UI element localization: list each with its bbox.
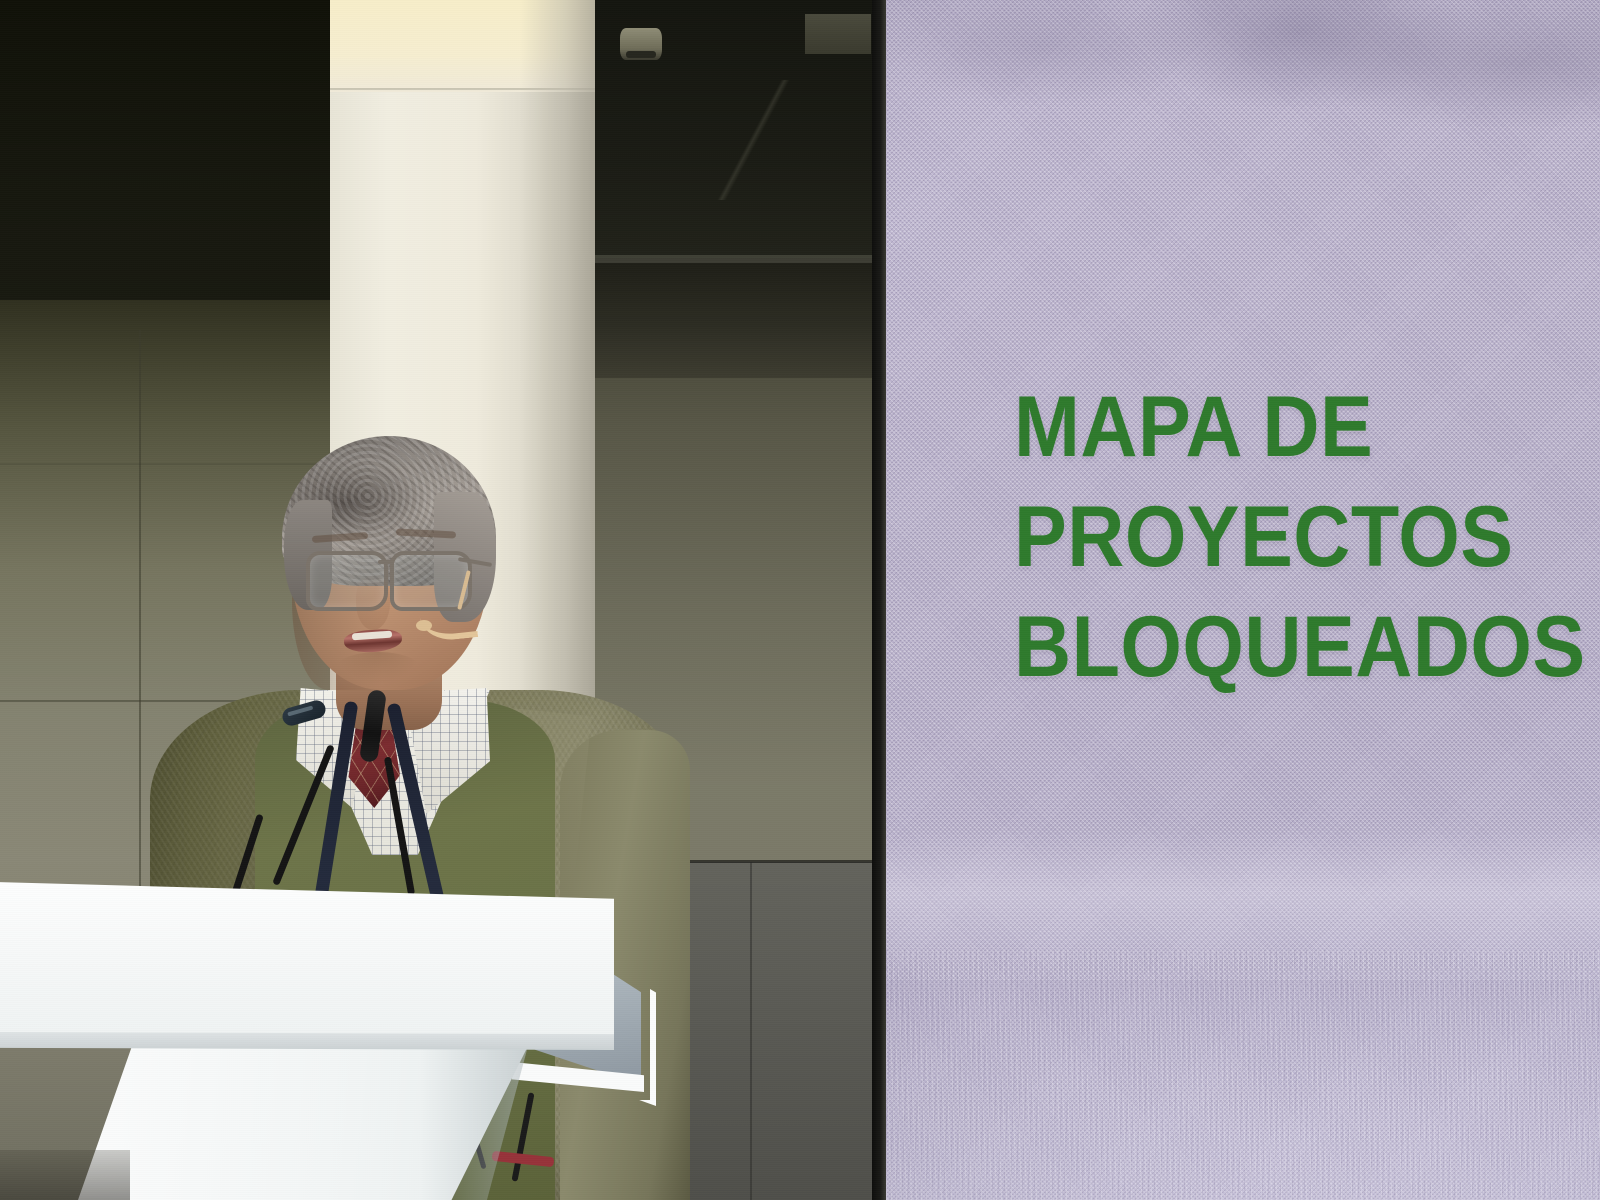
slide-title-line-3: BLOQUEADOS bbox=[1014, 592, 1600, 702]
chin-shadow bbox=[336, 652, 420, 684]
nose bbox=[356, 576, 390, 630]
headset-microphone-tip bbox=[416, 620, 432, 631]
slide-title-line-1: MAPA DE bbox=[1014, 372, 1600, 482]
podium-desk-edge bbox=[0, 1032, 614, 1050]
slide-title-line-2: PROYECTOS bbox=[1014, 482, 1600, 592]
podium-desk-panel bbox=[0, 882, 614, 1050]
projection-screen: MAPA DE PROYECTOS BLOQUEADOS bbox=[886, 0, 1600, 1200]
photo-scene: MAPA DE PROYECTOS BLOQUEADOS bbox=[0, 0, 1600, 1200]
floor-shadow bbox=[0, 1150, 130, 1200]
eyeglasses-bridge bbox=[378, 560, 394, 564]
slide-title: MAPA DE PROYECTOS BLOQUEADOS bbox=[1014, 372, 1600, 702]
